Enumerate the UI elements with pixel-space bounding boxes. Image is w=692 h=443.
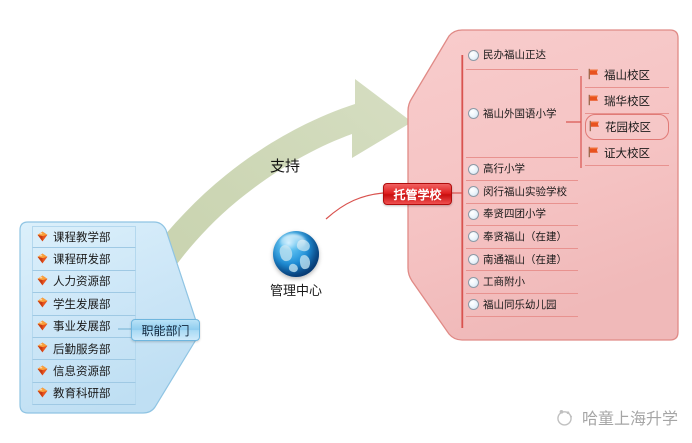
center-to-hosted-connector [326, 193, 383, 219]
flag-icon [588, 120, 601, 132]
watermark-text: 哈童上海升学 [582, 405, 678, 429]
list-item-label: 瑞华校区 [604, 95, 650, 107]
list-item[interactable]: 瑞华校区 [585, 88, 669, 114]
list-item[interactable]: 福山校区 [585, 62, 669, 88]
list-item[interactable]: 民办福山正达 [466, 41, 578, 70]
list-item-label: 民办福山正达 [483, 49, 546, 61]
flag-icon [587, 68, 600, 80]
globe-icon [273, 231, 319, 277]
watermark: 哈童上海升学 [554, 405, 678, 429]
list-item[interactable]: 课程教学部 [32, 226, 136, 248]
list-item[interactable]: 学生发展部 [32, 293, 136, 315]
functional-departments-badge[interactable]: 职能部门 [131, 319, 200, 341]
circle-icon [468, 209, 479, 220]
circle-icon [468, 108, 479, 119]
list-item-label: 奉贤福山（在建） [483, 231, 567, 243]
logo-icon [554, 407, 575, 428]
list-item[interactable]: 证大校区 [585, 140, 669, 166]
list-item-label: 学生发展部 [53, 298, 111, 310]
list-item-label: 花园校区 [605, 121, 651, 133]
circle-icon [468, 50, 479, 61]
list-item[interactable]: 人力资源部 [32, 271, 136, 293]
management-center-label: 管理中心 [254, 280, 338, 299]
list-item[interactable]: 奉贤福山（在建） [466, 226, 578, 249]
campus-list: 福山校区 瑞华校区 花园校区 证大校区 [585, 62, 669, 166]
list-item[interactable]: 花园校区 [585, 114, 669, 140]
circle-icon [468, 231, 479, 242]
list-item-label: 信息资源部 [53, 365, 111, 377]
circle-icon [468, 254, 479, 265]
circle-icon [468, 186, 479, 197]
gem-icon [36, 386, 49, 399]
list-item-label: 闵行福山实验学校 [483, 186, 567, 198]
management-center-node[interactable]: 管理中心 [254, 231, 338, 299]
list-item[interactable]: 高行小学 [466, 158, 578, 181]
list-item[interactable]: 工商附小 [466, 271, 578, 294]
list-item-label: 福山同乐幼儿园 [483, 299, 557, 311]
list-item-label: 福山外国语小学 [483, 108, 557, 120]
list-item[interactable]: 南通福山（在建） [466, 249, 578, 272]
list-item-label: 教育科研部 [53, 387, 111, 399]
hosted-schools-badge-label: 托管学校 [393, 186, 441, 203]
gem-icon [36, 341, 49, 354]
list-item-label: 人力资源部 [53, 275, 111, 287]
list-item[interactable]: 闵行福山实验学校 [466, 181, 578, 204]
list-item-label: 高行小学 [483, 163, 525, 175]
list-item[interactable]: 事业发展部 [32, 316, 136, 338]
gem-icon [36, 364, 49, 377]
circle-icon [468, 277, 479, 288]
diagram-canvas: 课程教学部 课程研发部 人力资源部 [0, 0, 692, 443]
flag-icon [587, 146, 600, 158]
gem-icon [36, 274, 49, 287]
gem-icon [36, 252, 49, 265]
gem-icon [36, 230, 49, 243]
list-item-label: 奉贤四团小学 [483, 208, 546, 220]
list-item[interactable]: 奉贤四团小学 [466, 204, 578, 227]
list-item[interactable]: 后勤服务部 [32, 338, 136, 360]
list-item-label: 工商附小 [483, 276, 525, 288]
list-item-label: 福山校区 [604, 69, 650, 81]
list-item-label: 后勤服务部 [53, 343, 111, 355]
list-item[interactable]: 课程研发部 [32, 248, 136, 270]
list-item[interactable]: 福山同乐幼儿园 [466, 294, 578, 317]
flag-icon [587, 94, 600, 106]
list-item[interactable]: 福山外国语小学 [466, 70, 578, 158]
support-arrow-label: 支持 [270, 155, 300, 176]
list-item-label: 课程教学部 [53, 231, 111, 243]
list-item-label: 事业发展部 [53, 320, 111, 332]
functional-departments-list: 课程教学部 课程研发部 人力资源部 [32, 226, 136, 405]
hosted-schools-badge[interactable]: 托管学校 [383, 183, 452, 205]
circle-icon [468, 299, 479, 310]
circle-icon [468, 164, 479, 175]
gem-icon [36, 319, 49, 332]
list-item[interactable]: 信息资源部 [32, 360, 136, 382]
functional-departments-badge-label: 职能部门 [141, 322, 189, 339]
list-item-label: 课程研发部 [53, 253, 111, 265]
list-item-label: 证大校区 [604, 147, 650, 159]
hosted-schools-list: 民办福山正达 福山外国语小学 高行小学 闵行福山实验学校 奉贤四团小学 奉贤福山… [466, 41, 578, 317]
gem-icon [36, 296, 49, 309]
list-item-label: 南通福山（在建） [483, 254, 567, 266]
list-item[interactable]: 教育科研部 [32, 383, 136, 405]
